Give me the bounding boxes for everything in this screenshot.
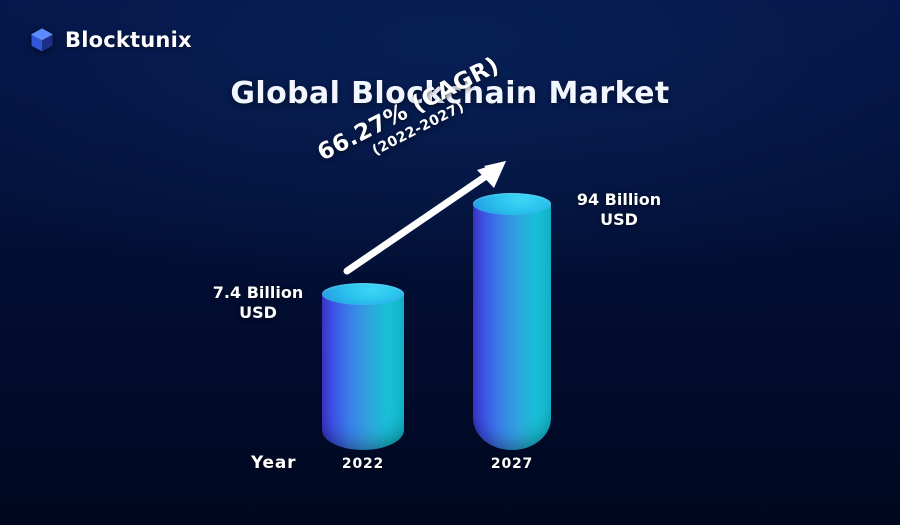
value-label-2027-amount: 94 Billion [557,190,681,210]
bar-2027[interactable] [473,193,551,450]
bar-body-2022 [322,294,404,450]
bar-top-ellipse-2022 [322,283,404,305]
bar-body-2027 [473,204,551,450]
value-label-2027-unit: USD [557,210,681,230]
chart-plot-area: 7.4 Billion USD 94 Billion USD 66.27% (C… [0,0,900,525]
value-label-2022-unit: USD [196,303,320,323]
category-label-2022: 2022 [313,456,413,472]
infographic-canvas: Blocktunix Global Blockchain Market 7.4 … [0,0,900,525]
x-axis-label: Year [251,453,296,473]
value-label-2027: 94 Billion USD [557,190,681,230]
bar-2022[interactable] [322,283,404,450]
cagr-period: (2022-2027) [312,70,524,189]
bar-top-ellipse-2027 [473,193,551,215]
value-label-2022-amount: 7.4 Billion [196,283,320,303]
cagr-annotation: 66.27% (CAGR) (2022-2027) [300,46,524,189]
value-label-2022: 7.4 Billion USD [196,283,320,323]
cagr-value: 66.27% (CAGR) [300,46,517,174]
category-label-2027: 2027 [462,456,562,472]
up-right-arrow-icon [0,0,900,525]
